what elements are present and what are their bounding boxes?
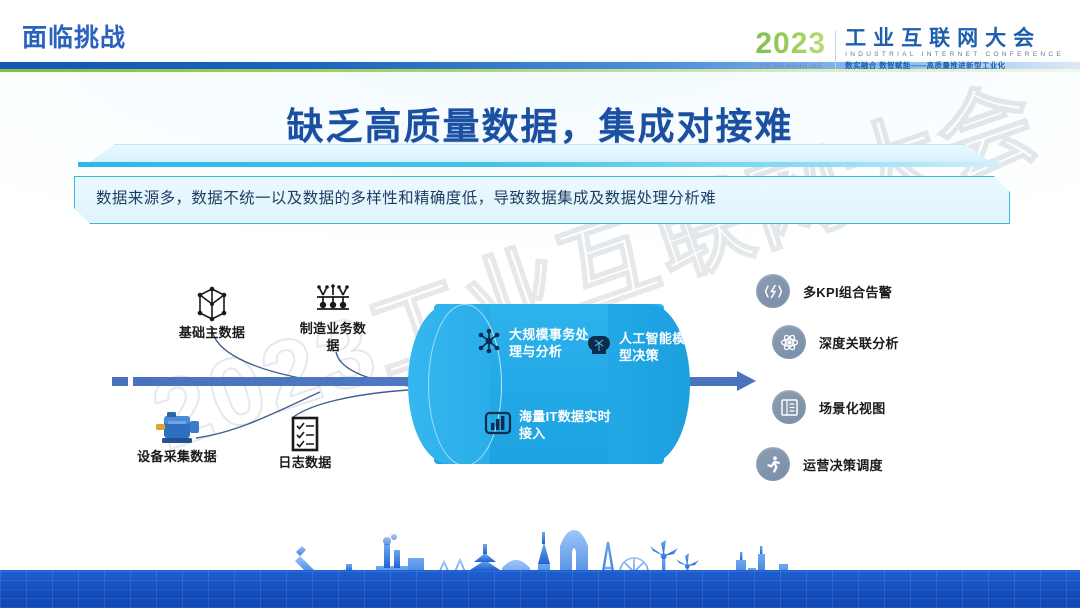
arrow-head bbox=[737, 371, 756, 391]
logo-english-name: INDUSTRIAL INTERNET CONFERENCE bbox=[845, 50, 1064, 60]
subtitle-text: 数据来源多，数据不统一以及数据的多样性和精确度低，导致数据集成及数据处理分析难 bbox=[96, 188, 996, 210]
molecule-network-icon bbox=[476, 328, 502, 359]
cube-wireframe-icon bbox=[162, 284, 262, 324]
bar-chart-icon bbox=[484, 410, 512, 441]
capability-item-1[interactable]: 多KPI组合告警 bbox=[756, 274, 892, 308]
capability-item-2-label: 深度关联分析 bbox=[819, 333, 899, 352]
capability-item-1-label: 多KPI组合告警 bbox=[803, 282, 892, 301]
arrow-stub bbox=[112, 377, 128, 386]
conference-logo: 2023 中国·苏州 8月14日-16日 工业互联网大会 INDUSTRIAL … bbox=[755, 28, 1064, 71]
slab-top-face bbox=[88, 144, 992, 163]
logo-year: 2023 bbox=[755, 29, 826, 59]
source-node-1-label: 基础主数据 bbox=[162, 324, 262, 341]
title-platform-slab bbox=[60, 144, 1020, 170]
capability-item-3[interactable]: 场景化视图 bbox=[772, 390, 886, 424]
platform-item-3-label: 海量IT数据实时接入 bbox=[519, 408, 611, 442]
logo-year-subtitle: 中国·苏州 8月14日-16日 bbox=[759, 62, 823, 70]
section-title: 面临挑战 bbox=[22, 18, 126, 54]
platform-item-3[interactable]: 海量IT数据实时接入 bbox=[484, 408, 611, 442]
logo-slogan: 数实融合 数智赋能——高质量推进新型工业化 bbox=[845, 60, 1064, 71]
platform-item-2-label: 人工智能模型决策 bbox=[619, 330, 697, 364]
source-node-1[interactable]: 基础主数据 bbox=[162, 284, 262, 341]
logo-divider bbox=[835, 31, 836, 69]
slab-front-band bbox=[78, 162, 1002, 167]
capability-item-4-label: 运营决策调度 bbox=[803, 455, 883, 474]
checklist-log-icon bbox=[250, 414, 360, 454]
logo-name-block: 工业互联网大会 INDUSTRIAL INTERNET CONFERENCE 数… bbox=[845, 28, 1064, 71]
brain-ai-icon bbox=[586, 333, 612, 362]
source-node-2-label: 制造业务数据 bbox=[294, 320, 372, 354]
source-node-4-label: 日志数据 bbox=[250, 454, 360, 471]
capability-item-3-label: 场景化视图 bbox=[819, 398, 886, 417]
atom-analysis-icon bbox=[772, 325, 806, 359]
operations-dispatch-icon bbox=[756, 447, 790, 481]
data-platform-cylinder: 大规模事务处理与分析 人工智能模型决策 bbox=[408, 304, 690, 464]
source-node-4[interactable]: 日志数据 bbox=[250, 414, 360, 471]
slide-root: 面临挑战 2023 中国·苏州 8月14日-16日 工业互联网大会 INDUST… bbox=[0, 0, 1080, 608]
logo-year-block: 2023 中国·苏州 8月14日-16日 bbox=[755, 29, 826, 70]
capability-item-4[interactable]: 运营决策调度 bbox=[756, 447, 883, 481]
capability-item-2[interactable]: 深度关联分析 bbox=[772, 325, 899, 359]
page-title: 缺乏高质量数据，集成对接难 bbox=[0, 96, 1080, 150]
footer-skyline bbox=[0, 518, 1080, 608]
kpi-alert-icon bbox=[756, 274, 790, 308]
source-node-2[interactable]: 制造业务数据 bbox=[294, 280, 372, 354]
scenario-view-icon bbox=[772, 390, 806, 424]
source-node-3-label: 设备采集数据 bbox=[118, 448, 236, 465]
logo-chinese-name: 工业互联网大会 bbox=[845, 28, 1064, 50]
platform-item-2[interactable]: 人工智能模型决策 bbox=[586, 330, 697, 364]
platform-item-1[interactable]: 大规模事务处理与分析 bbox=[476, 326, 601, 360]
source-node-3[interactable]: 设备采集数据 bbox=[118, 408, 236, 465]
cylinder-right-cap bbox=[608, 304, 690, 464]
electric-motor-icon bbox=[118, 408, 236, 448]
footer-grid-overlay bbox=[0, 570, 1080, 608]
manufacturing-network-icon bbox=[294, 280, 372, 320]
